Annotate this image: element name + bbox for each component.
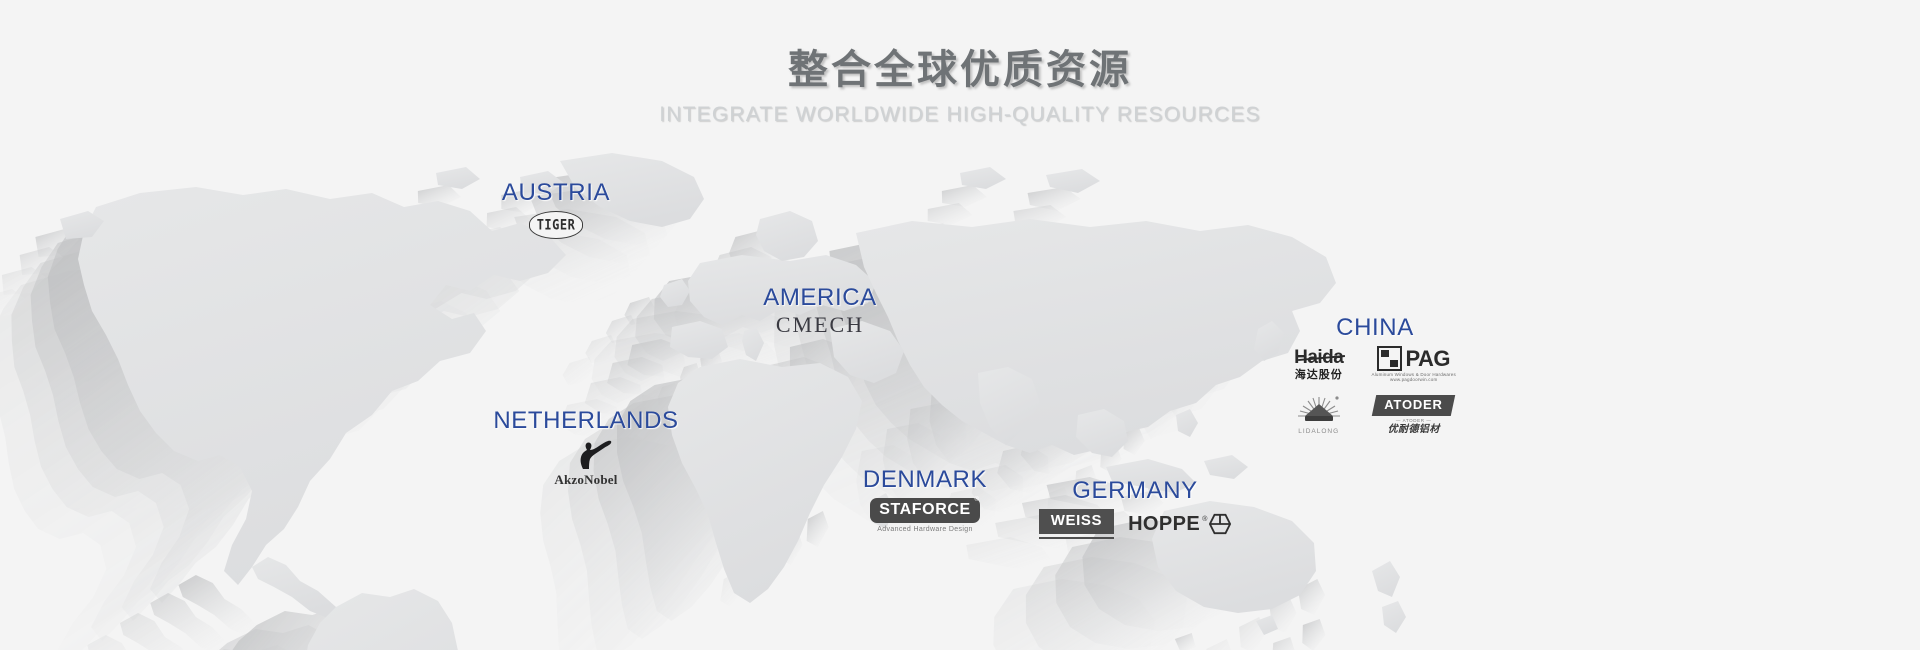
- world-map: [0, 115, 1920, 650]
- logo-group-china: Haida 海达股份 PAG Aluminum Windows & Door H…: [1290, 346, 1460, 436]
- country-label-china: CHINA: [1290, 315, 1460, 340]
- atoder-wordmark: ATODER: [1385, 398, 1444, 411]
- staforce-badge: STAFORCE ®: [870, 498, 980, 523]
- haida-wordmark-cn: 海达股份: [1295, 369, 1343, 380]
- staforce-registered-mark: ®: [974, 497, 978, 503]
- banner-heading: 整合全球优质资源 INTEGRATE WORLDWIDE HIGH-QUALIT…: [0, 0, 1920, 125]
- region-netherlands[interactable]: NETHERLANDS AkzoNobel: [466, 408, 706, 488]
- region-america[interactable]: AMERICA CMECH: [730, 285, 910, 336]
- weiss-underline: [1039, 537, 1114, 540]
- page-title: 整合全球优质资源: [0, 50, 1920, 90]
- lidalong-sunburst-icon: [1296, 394, 1342, 426]
- akzonobel-figure-icon: [557, 439, 615, 471]
- staforce-logo[interactable]: STAFORCE ® Advanced Hardware Design: [870, 498, 980, 533]
- staforce-wordmark: STAFORCE: [879, 501, 971, 518]
- country-label-austria: AUSTRIA: [476, 180, 636, 205]
- country-label-denmark: DENMARK: [830, 467, 1020, 492]
- pag-square-icon: [1377, 346, 1402, 371]
- akzonobel-wordmark: AkzoNobel: [554, 472, 617, 488]
- world-resources-banner: 整合全球优质资源 INTEGRATE WORLDWIDE HIGH-QUALIT…: [0, 0, 1920, 650]
- logo-group-denmark: STAFORCE ® Advanced Hardware Design: [830, 498, 1020, 533]
- region-china[interactable]: CHINA Haida 海达股份 PAG Aluminum Windows & …: [1290, 315, 1460, 436]
- region-denmark[interactable]: DENMARK STAFORCE ® Advanced Hardware Des…: [830, 467, 1020, 533]
- hoppe-hexagon-icon: [1209, 513, 1231, 535]
- world-map-svg: [0, 115, 1920, 650]
- logo-group-germany: WEISS HOPPE ®: [1020, 509, 1250, 539]
- weiss-badge: WEISS: [1039, 509, 1114, 534]
- atoder-badge: ATODER: [1372, 395, 1455, 416]
- haida-logo[interactable]: Haida 海达股份: [1294, 348, 1343, 380]
- lidalong-wordmark: LIDALONG: [1298, 429, 1339, 436]
- logo-group-austria: TIGER: [476, 211, 636, 239]
- hoppe-logo[interactable]: HOPPE ®: [1128, 513, 1231, 536]
- weiss-logo[interactable]: WEISS: [1039, 509, 1114, 539]
- pag-logo[interactable]: PAG Aluminum Windows & Door Hardwares ww…: [1372, 346, 1456, 382]
- lidalong-logo[interactable]: LIDALONG: [1296, 394, 1342, 436]
- atoder-subline: — ATODER —: [1396, 419, 1432, 424]
- pag-website: www.pagdoorwin.com: [1390, 378, 1437, 383]
- haida-wordmark: Haida: [1294, 348, 1343, 367]
- hoppe-wordmark: HOPPE: [1128, 513, 1200, 536]
- hoppe-registered-mark: ®: [1202, 516, 1207, 523]
- country-label-germany: GERMANY: [1020, 478, 1250, 503]
- atoder-wordmark-cn: 优耐德铝材: [1388, 425, 1440, 435]
- atoder-logo[interactable]: ATODER — ATODER — 优耐德铝材: [1374, 395, 1453, 436]
- cmech-wordmark[interactable]: CMECH: [730, 314, 910, 336]
- region-germany[interactable]: GERMANY WEISS HOPPE ®: [1020, 478, 1250, 539]
- tiger-badge-icon[interactable]: TIGER: [529, 211, 583, 239]
- staforce-tagline: Advanced Hardware Design: [877, 526, 973, 533]
- logo-group-netherlands: AkzoNobel: [466, 439, 706, 488]
- country-label-america: AMERICA: [730, 285, 910, 310]
- tiger-wordmark: TIGER: [537, 217, 576, 233]
- pag-logo-row: PAG: [1377, 346, 1450, 371]
- country-label-netherlands: NETHERLANDS: [466, 408, 706, 433]
- pag-wordmark: PAG: [1405, 348, 1450, 370]
- akzonobel-logo[interactable]: AkzoNobel: [554, 439, 617, 488]
- weiss-wordmark: WEISS: [1051, 512, 1102, 529]
- region-austria[interactable]: AUSTRIA TIGER: [476, 180, 636, 239]
